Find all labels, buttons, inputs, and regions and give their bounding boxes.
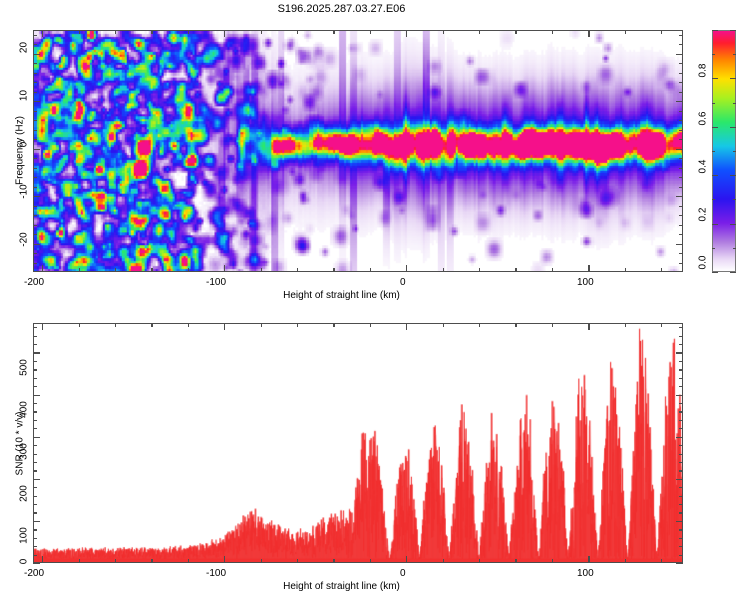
spec-ytick-right--6 [679,177,683,178]
snr-xtick--200 [42,556,43,563]
snr-ytick-220 [33,470,37,471]
spec-ytick-10 [33,101,40,102]
spec-ytick-right-16 [679,73,683,74]
snr-xtick-top--20 [370,323,371,327]
snr-xtick-20 [443,559,444,563]
snr-xtick-top--180 [79,323,80,327]
spec-ytick--20 [33,244,40,245]
spec-ytick-right--24 [679,263,683,264]
spec-xtick-top--140 [151,30,152,34]
snr-xtick-140 [661,559,662,563]
snr-ytick-right-200 [676,479,683,480]
snr-xtick--80 [261,559,262,563]
snr-xtick--180 [79,559,80,563]
snr-ytick-520 [33,344,37,345]
spec-xtick-top--80 [261,30,262,34]
spec-xtick-80 [552,268,553,272]
snr-xtick--100 [224,556,225,563]
colorbar-tick-0.1 [712,248,715,249]
spec-xtick--200 [42,265,43,272]
snr-xtick-80 [552,559,553,563]
spec-ytick-right--14 [679,215,683,216]
spec-ytick-right-2 [679,139,683,140]
colorbar-tick-right-0.1 [733,248,736,249]
snr-xtick--20 [370,559,371,563]
spec-ytick-right-6 [679,120,683,121]
spec-ytick-right--10 [676,196,683,197]
snr-ytick-380 [33,403,37,404]
snr-canvas [34,324,682,562]
snr-ytick-right-400 [676,395,683,396]
spec-xtick-m200: -200 [24,277,44,288]
spec-xtick-100: 100 [577,277,594,288]
spec-xtick-top-140 [661,30,662,34]
snr-ytick-420 [33,386,37,387]
snr-ytick-40 [33,546,37,547]
snr-ytick-100 [33,521,40,522]
spec-xtick-0 [406,265,407,272]
colorbar-tick-right-0.9 [733,54,736,55]
snr-ytick-right-480 [679,361,683,362]
colorbar-tick-0.3 [712,199,715,200]
spec-xtick-top-20 [443,30,444,34]
colorbar-tick-right-0.3 [733,199,736,200]
snr-xtick-top--60 [297,323,298,327]
snr-ytick-160 [33,496,37,497]
spec-xtick-40 [479,268,480,272]
spec-ytick--18 [33,234,37,235]
spec-ytick-right-10 [676,101,683,102]
spec-xtick-top-0 [406,30,407,37]
spec-ytick-6 [33,120,37,121]
spec-xtick-top--200 [42,30,43,37]
snr-xtick--60 [297,559,298,563]
snr-ytick-right-140 [679,504,683,505]
snr-ytick-right-80 [679,529,683,530]
spec-ytick-right--8 [679,187,683,188]
spec-ytick-16 [33,73,37,74]
snr-xtick--160 [115,559,116,563]
snr-ytick-right-120 [679,512,683,513]
snr-ytick-0 [33,563,40,564]
snr-xtick-top-120 [625,323,626,327]
spec-xtick--80 [261,268,262,272]
snr-axes [33,323,683,563]
spec-ytick-18 [33,63,37,64]
colorbar-gradient [713,31,735,271]
snr-xtick-top-20 [443,323,444,327]
snr-ytick-140 [33,504,37,505]
snr-ytick-right-460 [679,369,683,370]
spec-xtick--160 [115,268,116,272]
spec-xtick--180 [79,268,80,272]
spec-xtick-0: 0 [400,277,406,288]
spec-xtick-top--60 [297,30,298,34]
snr-xtick-top--40 [333,323,334,327]
colorbar-tick-right-0.2 [730,224,736,225]
snr-xtick-top--140 [151,323,152,327]
spec-xtick-100 [588,265,589,272]
snr-ytick-100: 100 [19,523,30,549]
spec-xtick--40 [333,268,334,272]
snr-ytick-right-420 [679,386,683,387]
snr-ylabel: SNR (10 * v/v) [15,391,26,497]
snr-ytick-360 [33,411,37,412]
snr-ytick-500 [33,352,40,353]
spec-xtick-top-60 [515,30,516,34]
spec-xtick--100 [224,265,225,272]
figure-title: S196.2025.287.03.27.E06 [0,3,683,15]
spec-ytick--6 [33,177,37,178]
spec-xtick-60 [515,268,516,272]
snr-ytick-240 [33,462,37,463]
snr-ytick-120 [33,512,37,513]
spec-xtick-20 [443,268,444,272]
spec-xtick-top-80 [552,30,553,34]
spec-ytick-2 [33,139,37,140]
snr-xtick-top-100 [588,323,589,330]
snr-xtick--140 [151,559,152,563]
snr-ytick-right-60 [679,538,683,539]
spec-ytick-right-20 [676,54,683,55]
snr-xtick-top-0 [406,323,407,330]
spec-ytick--4 [33,168,37,169]
colorbar-tick-right-0.8 [730,78,736,79]
spec-xtick--120 [188,268,189,272]
snr-ytick-180 [33,487,37,488]
spec-xtick-140 [661,268,662,272]
snr-ytick-right-20 [679,555,683,556]
spec-ytick-0 [33,149,40,150]
spec-xtick-top-100 [588,30,589,37]
snr-ytick-340 [33,420,37,421]
snr-ytick-right-440 [679,378,683,379]
snr-xtick-top--120 [188,323,189,327]
snr-ytick-right-220 [679,470,683,471]
spec-ytick--12 [33,206,37,207]
snr-xtick-m200: -200 [24,568,44,579]
spec-ytick--10 [33,196,40,197]
snr-xtick-120 [625,559,626,563]
spec-xtick-top--100 [224,30,225,37]
spec-ytick-20 [33,54,40,55]
snr-ytick-right-100 [676,521,683,522]
colorbar-tick-0.9 [712,54,715,55]
snr-ytick-300 [33,437,40,438]
snr-xtick--40 [333,559,334,563]
spec-ytick-right-4 [679,130,683,131]
spec-ytick-m20: -20 [19,227,30,253]
snr-xtick-top--200 [42,323,43,330]
snr-ytick-320 [33,428,37,429]
spec-xtick-top--180 [79,30,80,34]
snr-ytick-right-320 [679,428,683,429]
snr-ytick-right-520 [679,344,683,345]
snr-xtick--120 [188,559,189,563]
snr-ytick-20 [33,555,37,556]
snr-xtick-100 [588,556,589,563]
colorbar-tick-right-0.6 [730,127,736,128]
spec-xtick-120 [625,268,626,272]
snr-ytick-right-0 [676,563,683,564]
colorbar-tick-0.6: 0.6 [698,105,709,133]
spec-ytick--16 [33,225,37,226]
colorbar-tick-0.8 [712,78,718,79]
snr-xtick-top--80 [261,323,262,327]
colorbar-tick-0.2 [712,224,718,225]
snr-xtick-60 [515,559,516,563]
spec-ytick-right--22 [679,253,683,254]
snr-ytick-460 [33,369,37,370]
snr-ytick-right-240 [679,462,683,463]
spec-xtick-top--120 [188,30,189,34]
spec-xtick--20 [370,268,371,272]
colorbar-tick-0.5 [712,151,715,152]
snr-xlabel: Height of straight line (km) [0,581,683,592]
spectrogram-axes [33,30,683,272]
spec-ytick--14 [33,215,37,216]
colorbar-tick-right-1.0 [730,30,736,31]
snr-ytick-560 [33,327,37,328]
spec-xtick-top-120 [625,30,626,34]
snr-ytick-right-280 [679,445,683,446]
snr-ytick-right-260 [679,454,683,455]
colorbar-tick-0.4: 0.4 [698,153,709,181]
snr-ytick-440 [33,378,37,379]
spec-ytick-8 [33,111,37,112]
spec-ytick--2 [33,158,37,159]
snr-ytick-480 [33,361,37,362]
snr-ytick-right-380 [679,403,683,404]
spec-ytick-right-14 [679,82,683,83]
snr-xtick-0: 0 [400,568,406,579]
snr-xtick-top-40 [479,323,480,327]
snr-ytick-right-180 [679,487,683,488]
colorbar-tick-1.0 [712,30,718,31]
colorbar-tick-right-0.0 [730,272,736,273]
snr-xtick-top--160 [115,323,116,327]
snr-ytick-400 [33,395,40,396]
colorbar-tick-0.7 [712,103,715,104]
colorbar-tick-0.8: 0.8 [698,57,709,85]
spec-xtick-top--40 [333,30,334,34]
spec-ytick-right-24 [679,35,683,36]
spec-ytick-right--16 [679,225,683,226]
spec-xtick-top-40 [479,30,480,34]
spec-ytick-14 [33,82,37,83]
snr-ytick-right-540 [679,336,683,337]
spec-ytick-right--20 [676,244,683,245]
snr-ytick-60 [33,538,37,539]
snr-ytick-0: 0 [19,555,30,569]
spec-xtick-top--20 [370,30,371,34]
spec-ytick-12 [33,92,37,93]
spec-ytick-right--12 [679,206,683,207]
spec-xtick--140 [151,268,152,272]
colorbar-tick-0.0: 0.0 [698,249,709,277]
spec-ytick-right--4 [679,168,683,169]
snr-ytick-280 [33,445,37,446]
spec-ytick-22 [33,44,37,45]
snr-ytick-260 [33,454,37,455]
spec-ytick-right--2 [679,158,683,159]
snr-ytick-right-40 [679,546,683,547]
spec-ytick-right-18 [679,63,683,64]
spec-ytick-4 [33,130,37,131]
spec-ytick-24 [33,35,37,36]
snr-xtick-100: 100 [577,568,594,579]
snr-xtick-40 [479,559,480,563]
snr-ytick-200 [33,479,40,480]
spec-ytick--22 [33,253,37,254]
spec-ytick-20: 20 [19,38,30,58]
spec-ytick-right-8 [679,111,683,112]
colorbar-tick-0.4 [712,175,718,176]
snr-ytick-right-360 [679,411,683,412]
spec-ytick--8 [33,187,37,188]
snr-xtick-m100: -100 [206,568,226,579]
colorbar-tick-right-0.4 [730,175,736,176]
spec-ytick-right-12 [679,92,683,93]
snr-xtick-top-80 [552,323,553,327]
snr-ytick-540 [33,336,37,337]
spectrogram-canvas [34,31,682,271]
figure-root: S196.2025.287.03.27.E06 20 10 0 -10 -20 … [0,0,750,600]
colorbar-tick-0.0 [712,272,718,273]
snr-xtick-top-140 [661,323,662,327]
spec-ytick-right-0 [676,149,683,150]
colorbar-tick-0.2: 0.2 [698,201,709,229]
snr-ytick-500: 500 [19,355,30,381]
snr-ytick-right-560 [679,327,683,328]
snr-xtick-top--100 [224,323,225,330]
snr-ytick-right-340 [679,420,683,421]
snr-ytick-right-500 [676,352,683,353]
colorbar-tick-right-0.7 [733,103,736,104]
snr-ytick-80 [33,529,37,530]
spec-xtick-m100: -100 [206,277,226,288]
spec-ytick--24 [33,263,37,264]
colorbar-tick-0.6 [712,127,718,128]
snr-ytick-right-160 [679,496,683,497]
snr-xtick-top-60 [515,323,516,327]
spectrogram-ylabel: Frequency (Hz) [15,101,26,201]
snr-xtick-0 [406,556,407,563]
colorbar-tick-right-0.5 [733,151,736,152]
spectrogram-xlabel: Height of straight line (km) [0,290,683,301]
spec-xtick--60 [297,268,298,272]
spec-ytick-right-22 [679,44,683,45]
spec-ytick-right--18 [679,234,683,235]
spec-xtick-top--160 [115,30,116,34]
snr-ytick-right-300 [676,437,683,438]
